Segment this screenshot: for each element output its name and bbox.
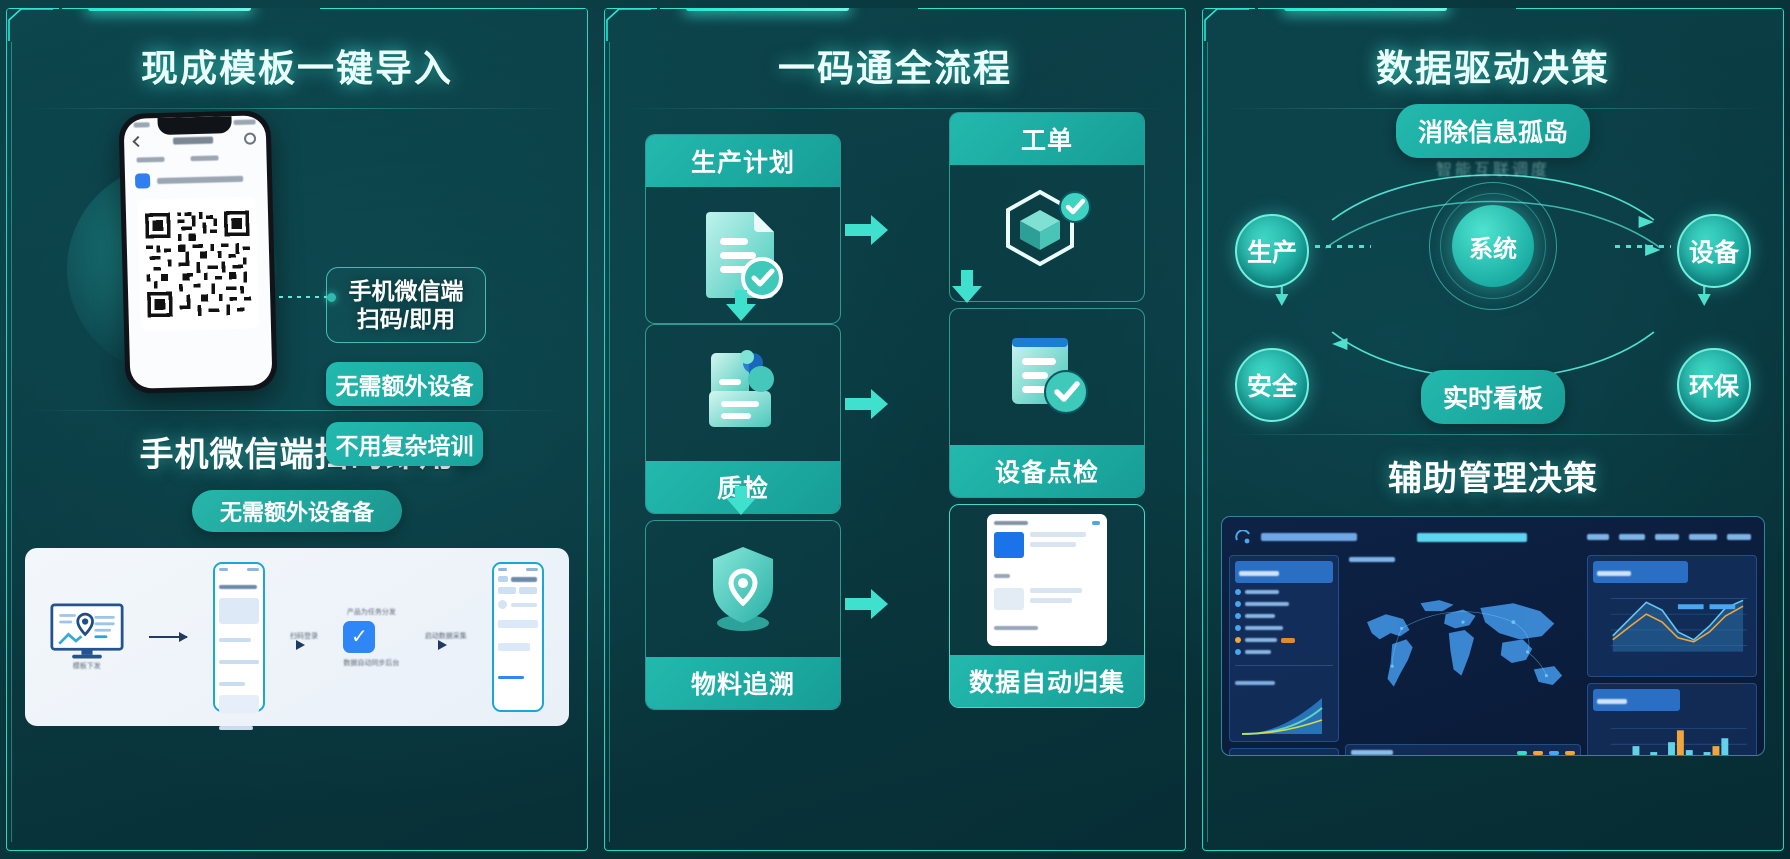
flow-note: 数据自动同步后台 — [343, 658, 399, 668]
wechat-badge-icon — [135, 173, 150, 188]
hub-node-label: 安全 — [1247, 367, 1297, 403]
badge-label: 无需额外设备备 — [220, 495, 374, 527]
menu-item[interactable] — [1655, 534, 1679, 540]
dashboard-panel-stats — [1229, 748, 1339, 756]
dashboard-card-icon — [987, 514, 1107, 646]
section-divider — [1225, 434, 1761, 435]
menu-item[interactable] — [1689, 534, 1717, 540]
dashboard-panel-trend — [1345, 744, 1581, 756]
phone-mockup — [118, 110, 277, 394]
tag-wechat-scan[interactable]: 手机微信端 扫码/即用 — [326, 267, 486, 343]
dashboard-panel-line-chart — [1587, 555, 1757, 677]
process-illustration: 模板下发 扫码登录 产品为任务分发 ✓ 数据自动同步后台 — [25, 548, 569, 726]
tag-label: 无需额外设备 — [336, 367, 474, 401]
report-check-icon — [1000, 330, 1094, 424]
flow-node-work-order[interactable]: 工单 — [949, 112, 1145, 302]
hub-node-label: 设备 — [1689, 233, 1739, 269]
node-label: 生产计划 — [646, 135, 840, 187]
badge-label: 实时看板 — [1443, 385, 1543, 413]
flow-node-production-plan[interactable]: 生产计划 — [645, 134, 841, 324]
hub-dash-left — [1315, 245, 1371, 248]
tag-label: 不用复杂培训 — [336, 427, 474, 461]
menu-item[interactable] — [1619, 534, 1645, 540]
settings-icon[interactable] — [244, 132, 256, 144]
bar-chart — [1593, 716, 1751, 756]
system-hub-diagram: 消除信息孤岛 — [1203, 98, 1783, 428]
flow-node-material-trace[interactable]: 物料追溯 — [645, 520, 841, 710]
flow-node-quality-check[interactable]: 质检 — [645, 324, 841, 514]
node-label: 设备点检 — [950, 445, 1144, 497]
panel-template-import: 现成模板一键导入 — [6, 8, 588, 851]
connector-line — [279, 296, 327, 298]
world-map-icon — [1345, 555, 1581, 738]
hub-dash-right — [1615, 245, 1671, 248]
arrow-right-icon — [149, 636, 187, 638]
menu-item[interactable] — [1587, 534, 1609, 540]
mobile-icon — [213, 562, 265, 712]
bi-dashboard[interactable] — [1221, 516, 1765, 756]
mobile-report-icon — [492, 562, 544, 712]
dashboard-brand — [1261, 533, 1357, 541]
cube-check-icon — [998, 184, 1096, 282]
process-flow-diagram: 生产计划 工单 — [645, 112, 1145, 772]
document-check-icon — [700, 208, 786, 302]
node-label: 物料追溯 — [646, 657, 840, 709]
hub-node-label: 环保 — [1689, 367, 1739, 403]
dashboard-center-title — [1417, 533, 1527, 542]
node-label: 质检 — [646, 461, 840, 513]
page-title: 现成模板一键导入 — [7, 8, 587, 92]
hub-core[interactable]: 系统 — [1452, 205, 1534, 287]
clipboard-search-icon — [697, 347, 789, 439]
hub-node-environment[interactable]: 环保 — [1677, 348, 1751, 422]
panel-one-code-flow: 一码通全流程 生产计划 — [604, 8, 1186, 851]
node-label: 工单 — [950, 113, 1144, 165]
dashboard-panel-list — [1229, 555, 1339, 742]
monitor-icon — [50, 603, 124, 660]
flow-node-equipment-inspection[interactable]: 设备点检 — [949, 308, 1145, 498]
panel1-hero: 手机微信端 扫码/即用 无需额外设备 不用复杂培训 — [7, 104, 587, 404]
logo-icon — [1235, 530, 1251, 544]
line-chart — [1593, 588, 1751, 660]
hub-caption: 智能互联调度 — [1436, 156, 1550, 180]
flow-node-data-collection[interactable]: 数据自动归集 — [949, 504, 1145, 708]
section-subtitle: 辅助管理决策 — [1203, 451, 1783, 500]
page-title: 数据驱动决策 — [1203, 8, 1783, 92]
shield-location-icon — [697, 541, 789, 637]
phone-notch-icon — [157, 116, 231, 135]
hub-node-equipment[interactable]: 设备 — [1677, 214, 1751, 288]
hub-node-label: 生产 — [1247, 233, 1297, 269]
frame-side-rail — [609, 42, 610, 842]
badge-realtime-board[interactable]: 实时看板 — [1421, 370, 1565, 424]
node-label: 数据自动归集 — [950, 655, 1144, 707]
badge-no-extra-device[interactable]: 无需额外设备备 — [192, 490, 402, 532]
section-subtitle: 手机微信端扫码即用 — [7, 427, 587, 476]
menu-item[interactable] — [1727, 534, 1751, 540]
tag-line-2: 扫码/即用 — [357, 305, 455, 333]
step-label: 模板下发 — [50, 661, 124, 671]
dashboard-panel-bar-chart — [1587, 683, 1757, 756]
divider — [623, 108, 1167, 109]
back-icon[interactable] — [132, 136, 143, 147]
tag-no-extra-device[interactable]: 无需额外设备 — [326, 362, 483, 406]
qr-code[interactable] — [138, 196, 259, 331]
panel-data-driven-decision: 数据驱动决策 消除信息孤岛 — [1202, 8, 1784, 851]
step-label: 产品为任务分发 — [343, 607, 399, 617]
tag-line-1: 手机微信端 — [349, 277, 464, 305]
check-icon: ✓ — [343, 621, 375, 653]
tag-no-training[interactable]: 不用复杂培训 — [326, 422, 483, 466]
page-title: 一码通全流程 — [605, 8, 1185, 92]
hub-node-safety[interactable]: 安全 — [1235, 348, 1309, 422]
infographic-stage: 现成模板一键导入 — [0, 0, 1790, 859]
hub-core-label: 系统 — [1469, 229, 1517, 264]
hub-node-production[interactable]: 生产 — [1235, 214, 1309, 288]
section-divider — [29, 410, 565, 411]
